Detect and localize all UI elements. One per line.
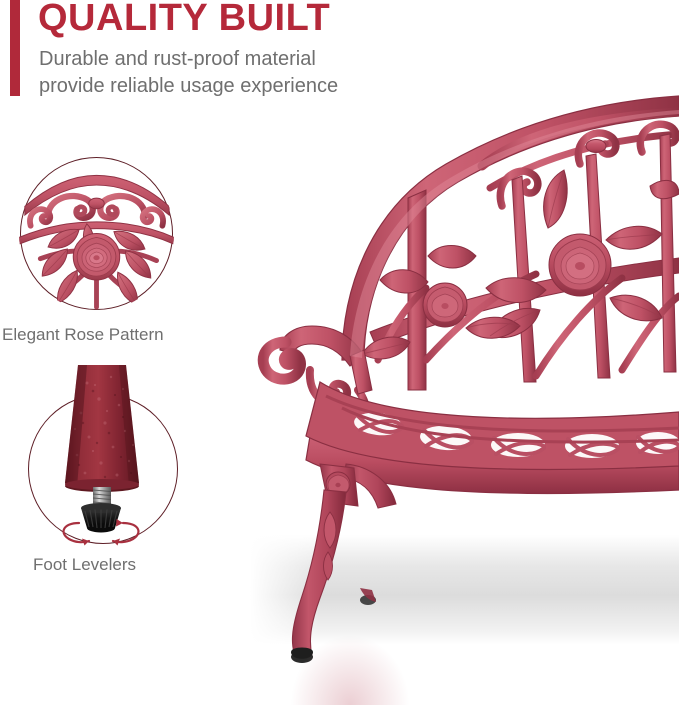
marketing-image-canvas: QUALITY BUILT Durable and rust-proof mat…	[0, 0, 679, 663]
callout-circle-rose-pattern	[20, 157, 173, 310]
foot-leveler-holder	[29, 395, 177, 543]
rose-pattern-icon	[19, 156, 174, 311]
page-title: QUALITY BUILT	[38, 0, 330, 40]
callout-circle-foot-leveler	[28, 394, 178, 544]
callout-label-rose-pattern: Elegant Rose Pattern	[2, 325, 164, 345]
product-photo-garden-bench	[250, 60, 679, 663]
callout-label-foot-levelers: Foot Levelers	[33, 555, 136, 575]
rose-pattern-clip	[19, 156, 174, 311]
foot-leveler-icon	[15, 365, 195, 555]
floor-reflection	[290, 635, 410, 705]
accent-bar	[10, 0, 20, 96]
bench-illustration	[250, 60, 679, 663]
